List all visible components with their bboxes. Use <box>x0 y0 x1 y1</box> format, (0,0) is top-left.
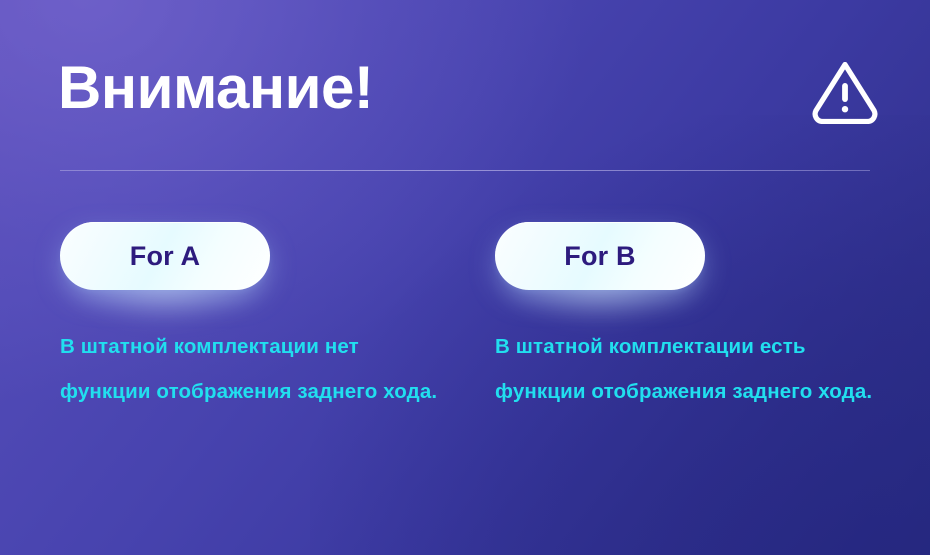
for-b-description: В штатной комплектации есть функции отоб… <box>495 324 885 414</box>
for-b-button-label: For B <box>564 241 636 272</box>
warning-triangle-icon <box>812 62 878 124</box>
for-a-description: В штатной комплектации нет функции отобр… <box>60 324 445 414</box>
page-title: Внимание! <box>58 52 373 124</box>
warning-slide: Внимание! For A В штатной комплектации н… <box>0 0 930 555</box>
pill-wrap-b: For B <box>495 212 705 292</box>
for-a-button[interactable]: For A <box>60 222 270 290</box>
pill-wrap-a: For A <box>60 212 270 292</box>
slide-content: Внимание! For A В штатной комплектации н… <box>0 0 930 555</box>
for-b-button[interactable]: For B <box>495 222 705 290</box>
header-divider <box>60 170 870 171</box>
column-for-a: For A В штатной комплектации нет функции… <box>60 212 460 292</box>
column-for-b: For B В штатной комплектации есть функци… <box>495 212 895 292</box>
for-a-button-label: For A <box>130 241 201 272</box>
